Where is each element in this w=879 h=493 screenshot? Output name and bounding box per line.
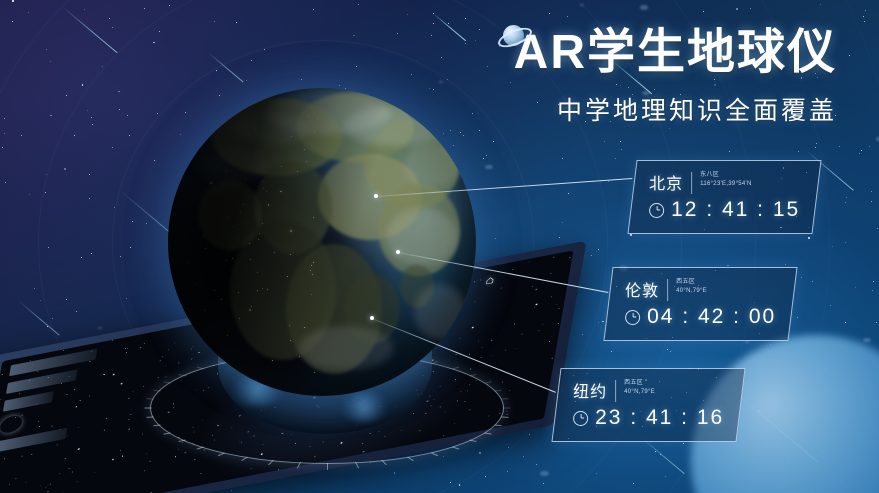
city-info-card[interactable]: 伦敦 西五区 40°N,79°E 04 : 42 : 00 (603, 267, 797, 341)
clock-icon (573, 411, 588, 426)
city-time: 12 : 41 : 15 (671, 198, 800, 222)
city-coordinates: 40°N,79°E (624, 389, 655, 397)
city-timezone: 东八区 (700, 172, 751, 180)
clock-icon (625, 310, 640, 325)
city-meta: 东八区 116°23'E,39°54'N (700, 170, 751, 188)
city-timezone: 西五区 (676, 279, 707, 287)
city-time: 04 : 42 : 00 (647, 305, 776, 329)
globe-terminator-shadow (168, 88, 476, 396)
tablet-globe-thumbnail[interactable] (0, 414, 23, 434)
city-meta: 西五区 40°N,79°E (676, 277, 707, 295)
city-time-row: 12 : 41 : 15 (649, 198, 800, 222)
divider (667, 279, 668, 301)
city-name: 北京 (649, 170, 683, 194)
clock-icon (649, 203, 664, 218)
divider (615, 380, 616, 402)
tablet-ui-chip[interactable] (9, 348, 98, 376)
city-name: 纽约 (573, 378, 607, 402)
city-meta: 西五区 40°N,79°E (624, 378, 655, 396)
page-title: AR学生地球仪 (514, 28, 837, 79)
title-block: AR学生地球仪 中学地理知识全面覆盖 (514, 28, 837, 127)
city-coordinates: 40°N,79°E (676, 288, 707, 296)
ar-globe-promo-banner: ⌂ AR学生地球仪 中学地理知识全面覆盖 北京 (0, 0, 879, 493)
city-timezone: 西五区 (624, 380, 655, 388)
earth-globe[interactable] (168, 88, 476, 396)
city-time-row: 23 : 41 : 16 (573, 406, 724, 430)
ringed-planet-icon (498, 20, 528, 50)
tablet-ui-chip[interactable] (3, 391, 54, 412)
globe-sphere[interactable] (168, 88, 476, 396)
city-coordinates: 116°23'E,39°54'N (700, 181, 751, 189)
tablet-sidebar-controls[interactable] (0, 347, 105, 452)
city-info-card[interactable]: 纽约 西五区 40°N,79°E 23 : 41 : 16 (551, 368, 745, 442)
city-info-card[interactable]: 北京 东八区 116°23'E,39°54'N 12 : 41 : 15 (627, 160, 821, 234)
city-time: 23 : 41 : 16 (595, 406, 724, 430)
city-time-row: 04 : 42 : 00 (625, 305, 776, 329)
divider (691, 172, 692, 194)
page-subtitle: 中学地理知识全面覆盖 (514, 91, 837, 127)
city-name: 伦敦 (625, 277, 659, 301)
